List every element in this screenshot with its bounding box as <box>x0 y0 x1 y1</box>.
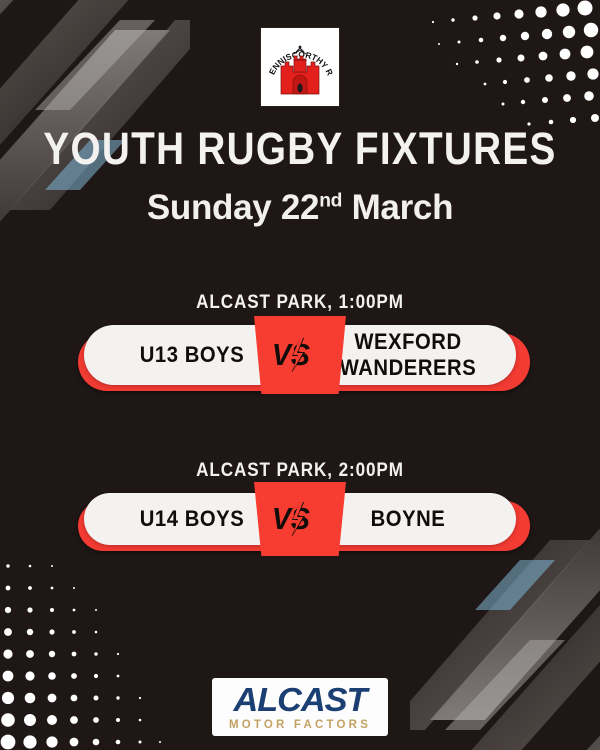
top-right-halftone-decoration <box>415 0 600 135</box>
svg-text:VS: VS <box>272 502 310 536</box>
fixture-bar-panel: U13 BOYS VS WEXFORD WANDERERS <box>84 325 516 385</box>
fixtures-poster: ENNISCORTHY RFC YOUTH RUGBY FIXTURES Sun… <box>0 0 600 750</box>
vs-lightning-icon: VS <box>271 502 329 536</box>
vs-badge: VS <box>254 316 346 394</box>
page-title: YOUTH RUGBY FIXTURES <box>42 123 558 175</box>
vs-badge: VS <box>254 482 346 556</box>
fixture-bar: U13 BOYS VS WEXFORD WANDERERS <box>70 325 530 385</box>
fixture-bar: U14 BOYS VS BOYNE <box>70 493 530 545</box>
sponsor-tagline: MOTOR FACTORS <box>229 719 371 731</box>
fixture-row: ALCAST PARK, 1:00PM U13 BOYS VS WEXFORD … <box>0 292 600 385</box>
fixture-date: Sunday 22nd March <box>0 188 600 228</box>
sponsor-logo: ALCAST MOTOR FACTORS <box>212 678 388 736</box>
bottom-left-halftone-decoration <box>0 550 175 750</box>
fixture-row: ALCAST PARK, 2:00PM U14 BOYS VS BOYNE <box>0 460 600 545</box>
fixture-venue: ALCAST PARK, 1:00PM <box>30 292 570 314</box>
sponsor-name: ALCAST <box>234 683 367 716</box>
vs-lightning-icon: VS <box>271 338 329 372</box>
fixture-date-prefix: Sunday 22 <box>147 188 319 227</box>
fixture-venue: ALCAST PARK, 2:00PM <box>30 460 570 482</box>
crest-artwork: ENNISCORTHY RFC <box>261 28 339 106</box>
fixture-date-ordinal: nd <box>319 190 342 211</box>
fixture-date-suffix: March <box>342 188 453 227</box>
fixture-bar-panel: U14 BOYS VS BOYNE <box>84 493 516 545</box>
club-crest-icon: ENNISCORTHY RFC <box>261 28 339 106</box>
svg-text:VS: VS <box>272 338 310 372</box>
